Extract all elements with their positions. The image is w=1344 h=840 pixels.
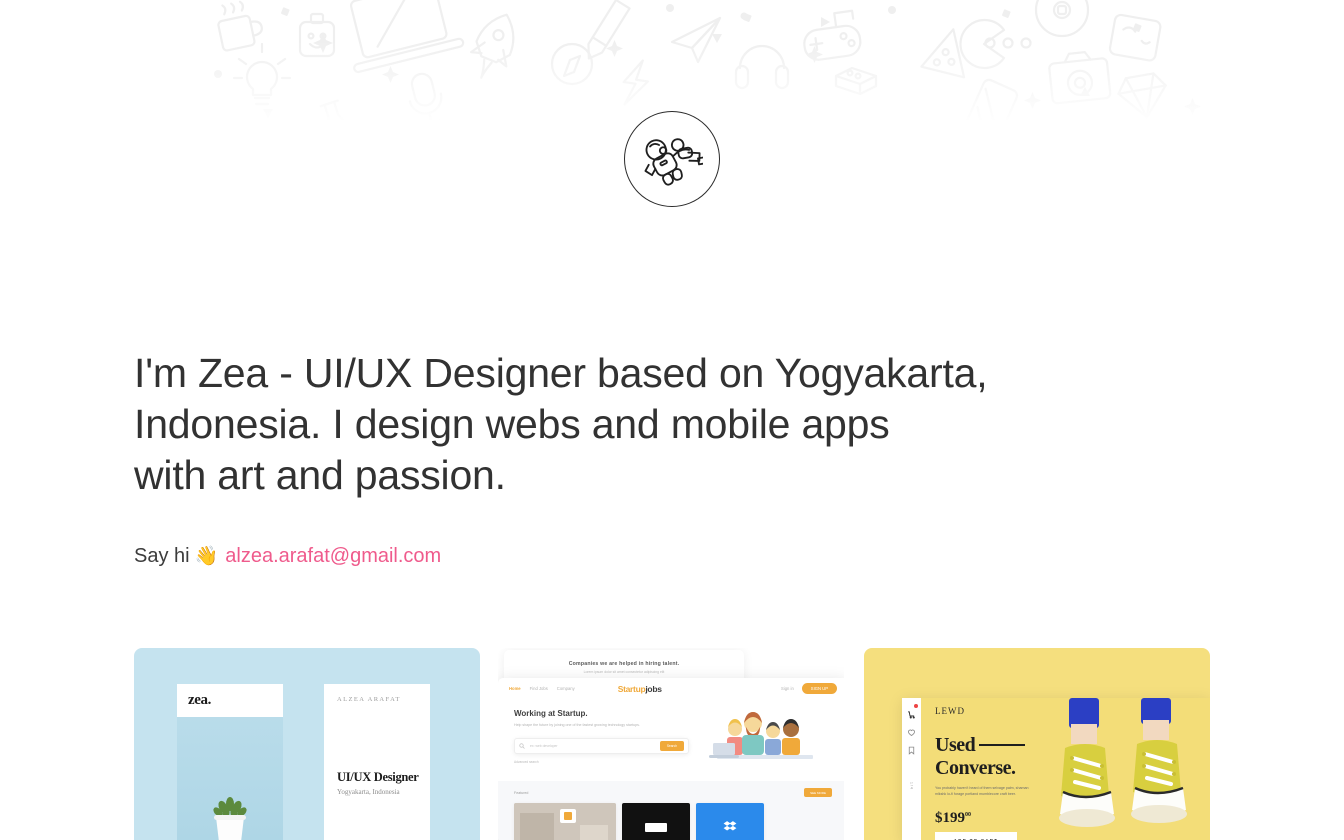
nav-signup-button[interactable]: SIGN UP: [802, 683, 837, 694]
job-thumbnail: [696, 803, 764, 840]
hero-heading: Working at Startup.: [514, 709, 689, 718]
slide-counter: 1/4: [910, 782, 914, 790]
pizza-icon: [921, 24, 974, 77]
lightbulb-icon: [234, 44, 290, 104]
product-description: You probably haven't heard of them selva…: [935, 786, 1035, 797]
site-logo[interactable]: [624, 111, 720, 207]
camera-icon: [1048, 50, 1111, 104]
cd-disc-icon: [1036, 0, 1088, 36]
lego-brick-icon: [836, 68, 876, 94]
job-card[interactable]: Product Developer Dropbox Inc Remote, Ne…: [696, 803, 764, 840]
card-owner-role: UI/UX Designer: [337, 770, 419, 785]
advanced-search-link[interactable]: Advanced search: [514, 760, 689, 764]
project-card-personal-branding[interactable]: zea.: [134, 648, 480, 840]
card-owner-name: ALZEA ARAFAT: [337, 696, 417, 703]
add-to-cart-button[interactable]: ADD TO CART: [935, 832, 1017, 840]
workspace-photo: [514, 803, 616, 840]
nav-item-home[interactable]: Home: [509, 686, 521, 691]
business-card-front-body: [177, 717, 283, 840]
price-cents: 00: [965, 812, 971, 818]
hero-band: Working at Startup. Help shape the futur…: [498, 699, 844, 781]
store-brand: LEWD: [935, 706, 965, 716]
job-card[interactable]: Front End Developer Gojek Full time, Jak…: [622, 803, 690, 840]
rocket-icon: [464, 8, 525, 85]
portfolio-page: I'm Zea - UI/UX Designer based on Yogyak…: [0, 0, 1344, 840]
sparkle-decorations: [214, 4, 1201, 120]
compass-icon: [552, 44, 592, 84]
sneakers-photo: [1035, 698, 1210, 840]
pacman-icon: [961, 20, 1004, 68]
product-title-line1: Used: [935, 734, 975, 756]
business-card-front-header: zea.: [177, 684, 283, 717]
cart-icon[interactable]: [907, 706, 916, 715]
cart-badge: [914, 704, 918, 708]
say-hi-label: Say hi: [134, 543, 190, 569]
companies-header: Companies we are helped in hiring talent…: [504, 650, 744, 674]
coffee-mug-icon: [215, 0, 265, 51]
job-card-grid: UI/UX Designer Tokopedia Jakarta, Indone…: [514, 803, 832, 840]
heart-icon[interactable]: [907, 724, 916, 733]
astronaut-icon: [641, 128, 703, 190]
featured-jobs-section: Featured SEE MORE: [498, 781, 844, 840]
pencil-icon: [582, 0, 629, 63]
dropbox-icon: [723, 820, 737, 834]
business-card-front: zea.: [177, 684, 283, 840]
product-hero: LEWD Used Converse. You probably haven't…: [921, 698, 1210, 840]
job-card[interactable]: UI/UX Designer Tokopedia Jakarta, Indone…: [514, 803, 616, 840]
nav-item-company[interactable]: Company: [557, 686, 575, 691]
project-card-startupjobs[interactable]: Companies we are helped in hiring talent…: [498, 648, 844, 840]
project-card-lewd-store[interactable]: 1/4 LEWD Used Converse. You probably hav…: [864, 648, 1210, 840]
nav-item-find-jobs[interactable]: Find Jobs: [530, 686, 548, 691]
email-link[interactable]: alzea.arafat@gmail.com: [225, 543, 441, 569]
pacman-dots: [986, 39, 1031, 48]
diamond-icon: [1116, 72, 1171, 120]
ecommerce-mockup: 1/4 LEWD Used Converse. You probably hav…: [902, 698, 1210, 840]
job-thumbnail: [514, 803, 616, 840]
headphones-icon: [736, 46, 788, 88]
brand-prefix: Startup: [618, 684, 646, 694]
paper-plane-icon: [672, 18, 720, 62]
waving-hand-icon: 👋: [195, 547, 219, 566]
bookmark-icon[interactable]: [907, 742, 916, 751]
flask-icon: [315, 99, 354, 120]
companies-subheading: Lorem ipsum dolor sit amet consectetur a…: [504, 670, 744, 674]
brand-suffix: jobs: [645, 684, 661, 694]
featured-label: Featured: [514, 791, 528, 795]
startupjobs-brand: Startupjobs: [618, 684, 662, 694]
product-price: $19900: [935, 810, 971, 827]
contact-line: Say hi 👋 alzea.arafat@gmail.com: [134, 543, 441, 569]
laptop-icon: [338, 0, 464, 73]
team-illustration: [695, 709, 830, 769]
search-icon: [519, 743, 525, 749]
projects-row: zea.: [0, 646, 1344, 840]
sticker-icon: [1109, 14, 1161, 61]
side-rail: 1/4: [902, 698, 921, 840]
job-search-bar[interactable]: ex: web developer Search: [514, 738, 689, 754]
job-thumbnail: [622, 803, 690, 840]
doodle-banner: [0, 0, 1344, 120]
business-card-back: ALZEA ARAFAT UI/UX Designer Yogyakarta, …: [324, 684, 430, 840]
microphone-icon: [404, 70, 447, 120]
nav-signin-link[interactable]: Sign in: [781, 686, 794, 691]
featured-see-more-button[interactable]: SEE MORE: [804, 788, 832, 797]
navbar-actions: Sign in SIGN UP: [781, 683, 837, 694]
potted-plant-icon: [204, 790, 256, 840]
search-button[interactable]: Search: [660, 741, 684, 751]
hero-subheading: Help shape the future by joining one of …: [514, 723, 654, 728]
smartphone-icon: [961, 78, 1019, 120]
card-owner-location: Yogyakarta, Indonesia: [337, 788, 400, 796]
doodle-fade-overlay: [0, 40, 1344, 120]
page-title: I'm Zea - UI/UX Designer based on Yogyak…: [134, 348, 1144, 501]
title-rule: [979, 744, 1025, 746]
featured-header: Featured SEE MORE: [514, 788, 832, 797]
price-amount: $199: [935, 810, 965, 826]
gamepad-icon: [801, 10, 863, 61]
site-navbar: Home Find Jobs Company Startupjobs Sign …: [498, 678, 844, 699]
companies-heading: Companies we are helped in hiring talent…: [504, 661, 744, 667]
startupjobs-app-mock: Home Find Jobs Company Startupjobs Sign …: [498, 678, 844, 840]
hero-copy: Working at Startup. Help shape the futur…: [514, 709, 689, 769]
lightning-bolt-icon: [621, 58, 651, 107]
product-title-line2: Converse.: [935, 757, 1015, 779]
brand-mark: zea.: [188, 692, 211, 709]
lego-head-icon: [300, 14, 334, 56]
hero-section: I'm Zea - UI/UX Designer based on Yogyak…: [134, 348, 1144, 501]
search-placeholder: ex: web developer: [530, 744, 558, 748]
